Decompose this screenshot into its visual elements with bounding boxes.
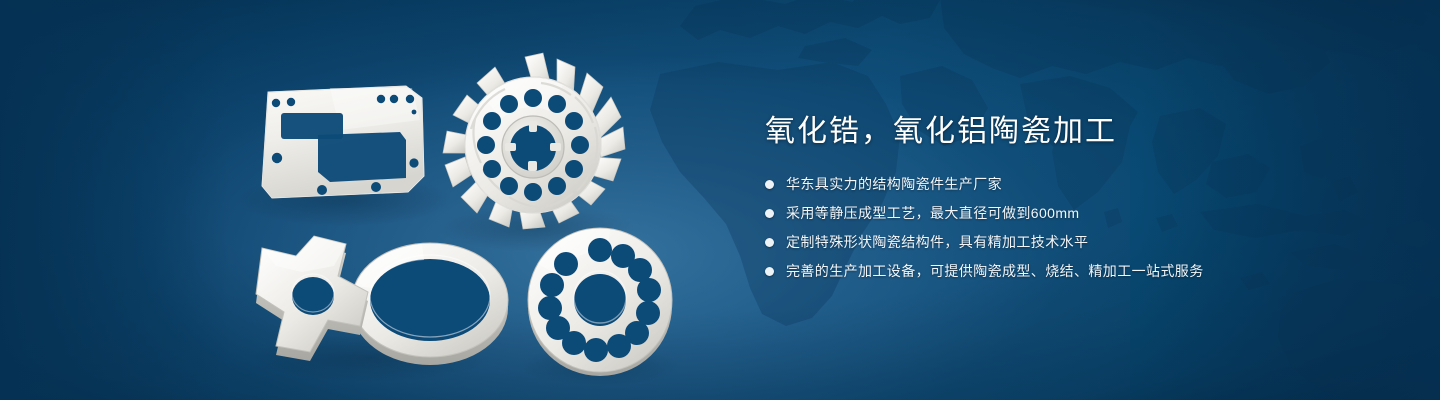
bullet-dot-icon: [765, 238, 774, 247]
ceramic-impeller-part: [443, 53, 625, 229]
bullet-dot-icon: [765, 267, 774, 276]
ceramic-products-group: [0, 0, 740, 400]
feature-bullet-list: 华东具实力的结构陶瓷件生产厂家 采用等静压成型工艺，最大直径可做到600mm 定…: [765, 174, 1405, 281]
banner-text-column: 氧化锆，氧化铝陶瓷加工 华东具实力的结构陶瓷件生产厂家 采用等静压成型工艺，最大…: [765, 112, 1405, 290]
list-item: 采用等静压成型工艺，最大直径可做到600mm: [765, 203, 1405, 223]
list-item: 华东具实力的结构陶瓷件生产厂家: [765, 174, 1405, 194]
list-item: 定制特殊形状陶瓷结构件，具有精加工技术水平: [765, 232, 1405, 252]
banner-headline: 氧化锆，氧化铝陶瓷加工: [765, 112, 1405, 152]
bullet-text: 采用等静压成型工艺，最大直径可做到600mm: [786, 203, 1079, 223]
promo-banner: 氧化锆，氧化铝陶瓷加工 华东具实力的结构陶瓷件生产厂家 采用等静压成型工艺，最大…: [0, 0, 1440, 400]
ceramic-plate-part: [262, 86, 424, 198]
list-item: 完善的生产加工设备，可提供陶瓷成型、烧结、精加工一站式服务: [765, 261, 1405, 281]
bullet-text: 定制特殊形状陶瓷结构件，具有精加工技术水平: [786, 232, 1088, 252]
bullet-dot-icon: [765, 209, 774, 218]
bullet-dot-icon: [765, 180, 774, 189]
bullet-text: 华东具实力的结构陶瓷件生产厂家: [786, 174, 1002, 194]
ceramic-ring-part: [352, 243, 508, 365]
bullet-text: 完善的生产加工设备，可提供陶瓷成型、烧结、精加工一站式服务: [786, 261, 1204, 281]
ceramic-perforated-disc-part: [528, 228, 672, 376]
